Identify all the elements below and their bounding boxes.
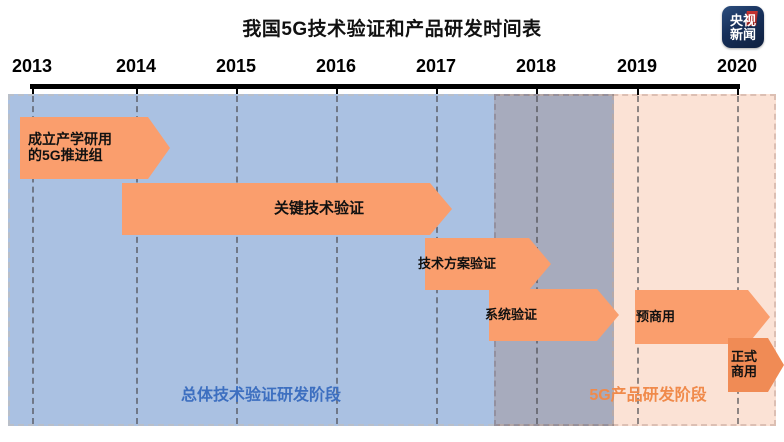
task-label-official-commercial: 正式 商用: [731, 350, 757, 379]
year-label-2014: 2014: [116, 56, 156, 77]
task-label-line: 成立产学研用: [28, 132, 112, 148]
arrow-head: [529, 238, 551, 290]
task-arrow-system-verification[interactable]: 系统验证: [489, 289, 619, 341]
year-label-2018: 2018: [516, 56, 556, 77]
year-label-2016: 2016: [316, 56, 356, 77]
arrow-head: [148, 117, 170, 179]
task-label-line: 商用: [731, 365, 757, 380]
task-label-key-tech-verification: 关键技术验证: [274, 201, 364, 218]
phase-label-overall-verification: 总体技术验证研发阶段: [181, 381, 341, 405]
arrow-head: [748, 290, 770, 344]
phase-label-5g-product-rd: 5G产品研发阶段: [589, 381, 706, 405]
task-label-tech-solution-verification: 技术方案验证: [418, 257, 496, 272]
year-label-2019: 2019: [617, 56, 657, 77]
logo-line-2: 新闻: [722, 28, 764, 41]
task-label-ipur-5g-group: 成立产学研用 的5G推进组: [28, 132, 112, 163]
task-label-system-verification: 系统验证: [485, 308, 537, 323]
arrow-head: [597, 289, 619, 341]
task-arrow-pre-commercial[interactable]: 预商用: [635, 290, 770, 344]
gridline-2019: [637, 96, 639, 424]
task-arrow-tech-solution-verification[interactable]: 技术方案验证: [425, 238, 551, 290]
cctv-news-logo: 央视 新闻: [722, 6, 764, 48]
year-label-2020: 2020: [717, 56, 757, 77]
gridline-2016: [336, 96, 338, 424]
task-label-line: 正式: [731, 350, 757, 365]
task-label-pre-commercial: 预商用: [636, 310, 675, 325]
task-label-line: 的5G推进组: [28, 148, 112, 164]
year-label-2017: 2017: [416, 56, 456, 77]
timeline-infographic: 我国5G技术验证和产品研发时间表 央视 新闻 20132014201520162…: [0, 0, 784, 442]
year-label-2013: 2013: [12, 56, 52, 77]
arrow-head: [768, 338, 784, 392]
year-label-2015: 2015: [216, 56, 256, 77]
task-arrow-key-tech-verification[interactable]: 关键技术验证: [122, 183, 452, 235]
task-arrow-official-commercial[interactable]: 正式 商用: [728, 338, 784, 392]
arrow-head: [430, 183, 452, 235]
gridline-2015: [236, 96, 238, 424]
year-axis-labels: 20132014201520162017201820192020: [0, 56, 784, 80]
page-title: 我国5G技术验证和产品研发时间表: [0, 14, 784, 41]
task-arrow-ipur-5g-group[interactable]: 成立产学研用 的5G推进组: [20, 117, 170, 179]
logo-line-1: 央视: [722, 14, 764, 27]
